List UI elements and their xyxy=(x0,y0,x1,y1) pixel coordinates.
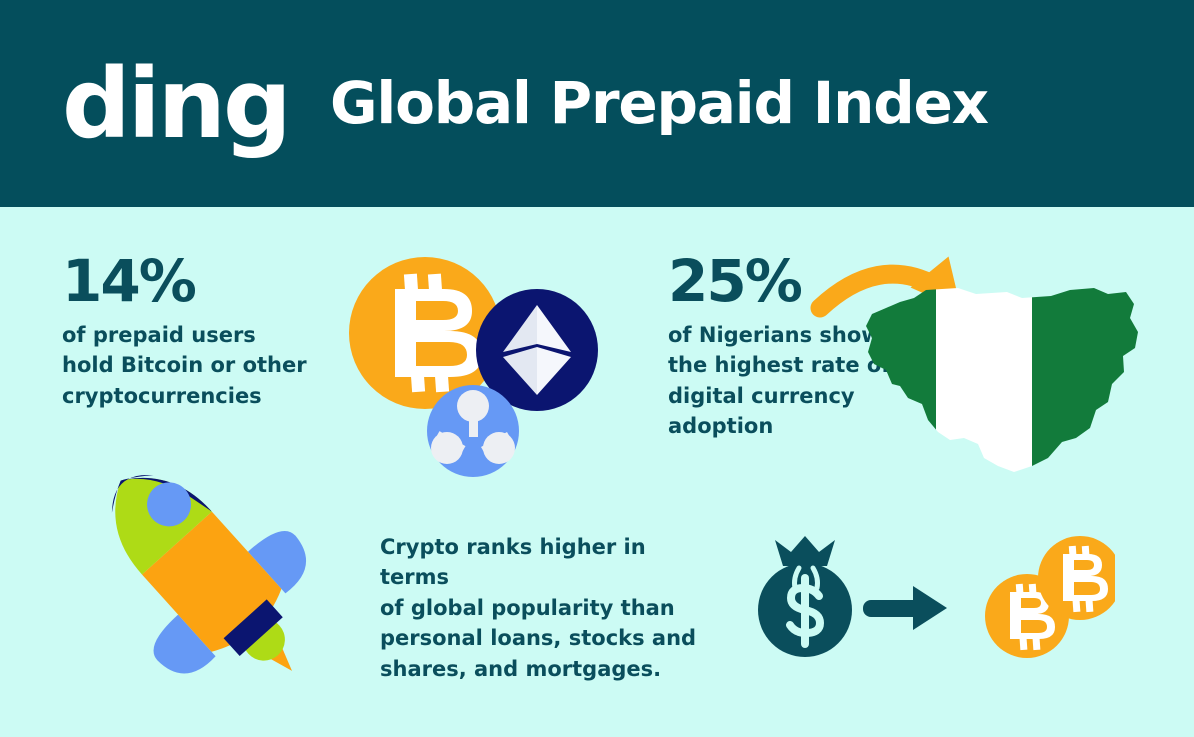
ripple-coin xyxy=(427,385,519,477)
money-to-crypto-flow xyxy=(735,520,1115,665)
ding-logo: ding xyxy=(62,56,289,152)
page-title: Global Prepaid Index xyxy=(330,70,988,137)
money-bag-icon xyxy=(758,536,852,657)
stat-block-crypto-holders: 14% of prepaid users hold Bitcoin or oth… xyxy=(62,252,362,411)
rocket-illustration xyxy=(48,437,358,712)
right-arrow-icon xyxy=(863,586,947,630)
nigeria-map-illustration xyxy=(808,252,1148,487)
crypto-coins-cluster xyxy=(340,243,610,488)
stat-description-crypto-holders: of prepaid users hold Bitcoin or other c… xyxy=(62,320,362,411)
nigeria-flag-fill xyxy=(858,282,1148,482)
page-header: ding Global Prepaid Index xyxy=(0,0,1194,207)
stat-value-14-percent: 14% xyxy=(62,252,362,310)
body-copy-crypto-popularity: Crypto ranks higher in terms of global p… xyxy=(380,532,710,684)
infographic-page: ding Global Prepaid Index 14% of prepaid… xyxy=(0,0,1194,737)
